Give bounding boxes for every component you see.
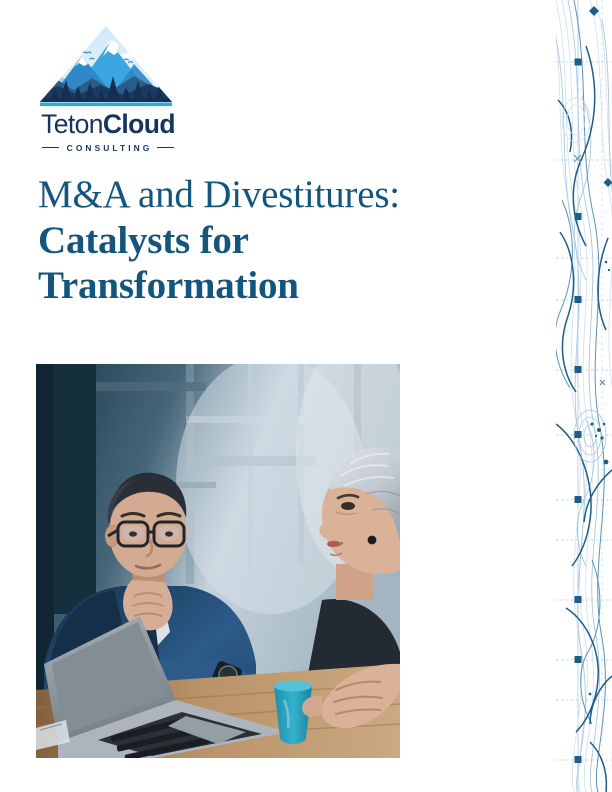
logo-tagline-row: CONSULTING: [38, 143, 178, 153]
title-line-2: Catalysts for: [38, 218, 478, 264]
mountain-triangle-icon: [38, 24, 174, 108]
logo-wordmark: TetonCloud: [38, 111, 178, 138]
tagline-rule-right: [157, 147, 174, 149]
document-cover-page: TetonCloud CONSULTING M&A and Divestitur…: [0, 0, 612, 792]
cover-title: M&A and Divestitures: Catalysts for Tran…: [38, 172, 478, 309]
tagline-rule-left: [42, 147, 59, 149]
logo-wordmark-cloud: Cloud: [103, 109, 175, 139]
title-line-3: Transformation: [38, 263, 478, 309]
topographic-contour-pattern: [556, 0, 612, 792]
title-line-1: M&A and Divestitures:: [38, 172, 478, 218]
logo-wordmark-teton: Teton: [41, 109, 103, 139]
company-logo: TetonCloud CONSULTING: [38, 24, 178, 153]
logo-tagline: CONSULTING: [64, 143, 153, 153]
cover-photo: [36, 364, 400, 758]
